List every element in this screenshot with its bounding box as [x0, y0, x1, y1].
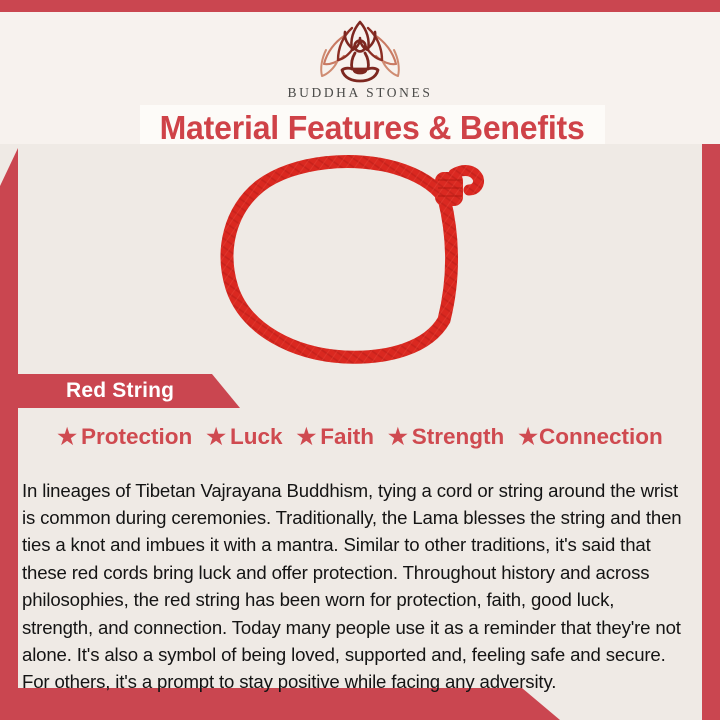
lotus-meditation-icon	[300, 18, 420, 84]
benefit-item-faith: ★ Faith	[297, 424, 374, 450]
benefit-label: Protection	[81, 424, 192, 450]
benefit-item-luck: ★ Luck	[206, 424, 282, 450]
star-icon: ★	[297, 426, 317, 448]
benefit-label: Faith	[320, 424, 374, 450]
benefit-label: Strength	[412, 424, 505, 450]
red-string-bracelet-image	[216, 152, 506, 364]
brand-logo: BUDDHA STONES	[0, 18, 720, 101]
benefit-label: Connection	[539, 424, 663, 450]
benefit-item-strength: ★ Strength	[388, 424, 504, 450]
benefit-item-protection: ★ Protection	[57, 424, 192, 450]
product-name-label: Red String	[66, 379, 174, 403]
star-icon: ★	[206, 426, 226, 448]
description-paragraph: In lineages of Tibetan Vajrayana Buddhis…	[22, 477, 690, 696]
top-accent-band	[0, 0, 720, 12]
bracelet-stage	[18, 144, 702, 372]
product-name-ribbon: Red String	[0, 374, 240, 408]
star-icon: ★	[518, 426, 538, 448]
benefits-list: ★ Protection ★ Luck ★ Faith ★ Strength ★…	[18, 418, 702, 456]
benefit-label: Luck	[230, 424, 283, 450]
page-title: Material Features & Benefits	[160, 109, 585, 147]
benefit-item-connection: ★ Connection	[518, 424, 662, 450]
header: BUDDHA STONES Material Features & Benefi…	[0, 12, 720, 144]
infographic-page: BUDDHA STONES Material Features & Benefi…	[0, 0, 720, 720]
left-accent-band	[0, 148, 18, 688]
brand-name: BUDDHA STONES	[0, 85, 720, 101]
star-icon: ★	[388, 426, 408, 448]
star-icon: ★	[57, 426, 77, 448]
product-image-area	[18, 144, 702, 372]
